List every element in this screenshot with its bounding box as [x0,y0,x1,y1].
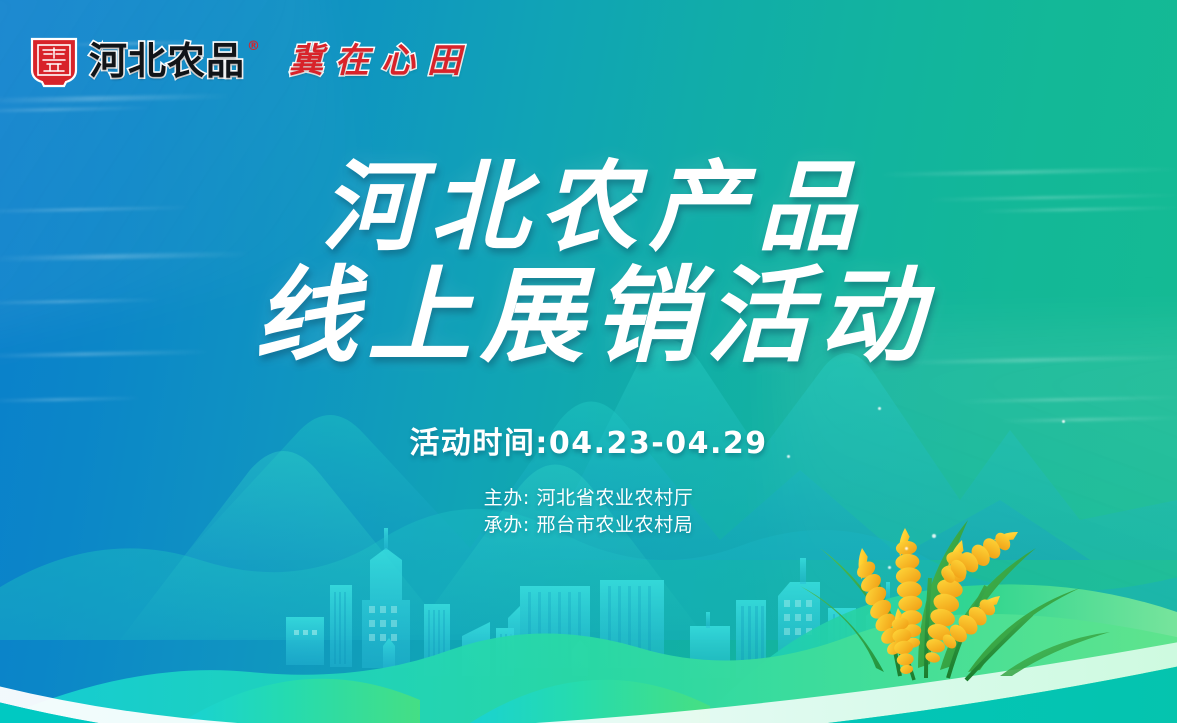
organizer-co-host: 承办: 邢台市农业农村局 [0,512,1177,539]
sparkle-dot [905,547,908,550]
promo-banner: 河北农品 ® 冀在心田 河北农产品 线上展销活动 活动时间:04.23-04.2… [0,0,1177,723]
organizer-block: 主办: 河北省农业农村厅 承办: 邢台市农业农村局 [0,485,1177,539]
brand-logo[interactable]: 河北农品 ® 冀在心田 [28,33,473,89]
sparkle-dot [878,407,881,410]
registered-mark: ® [247,40,261,53]
organizer-host: 主办: 河北省农业农村厅 [0,485,1177,512]
wheat-stalks-icon [0,0,1177,723]
sparkle-dot [888,566,891,569]
brand-slogan: 冀在心田 [289,44,473,78]
brand-name: 河北农品 ® [89,42,245,80]
event-date: 活动时间:04.23-04.29 [0,418,1177,462]
hebei-seal-icon [28,34,80,88]
brand-name-text: 河北农品 [89,39,245,83]
